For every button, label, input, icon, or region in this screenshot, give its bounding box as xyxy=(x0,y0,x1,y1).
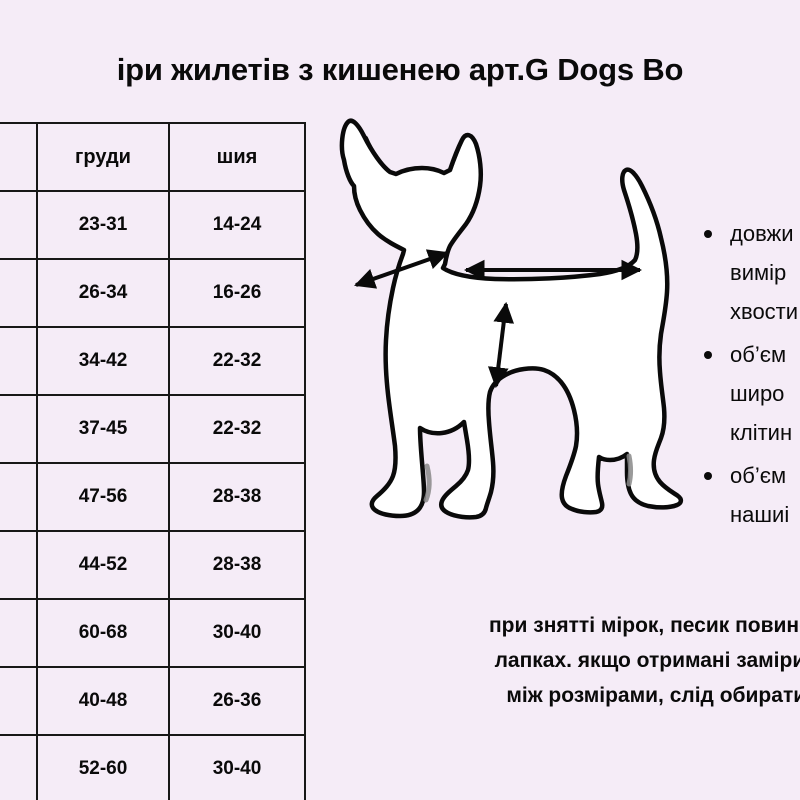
table-cell-neck: 30-40 xyxy=(169,599,305,667)
list-item: об’єм широ клітин xyxy=(700,335,800,452)
page-title: іри жилетів з кишенею арт.G Dogs Bo xyxy=(0,48,800,92)
table-cell-neck: 22-32 xyxy=(169,395,305,463)
table-row: 37-4522-32 xyxy=(0,395,305,463)
measuring-note-paragraph: при знятті мірок, песик повинен с лапках… xyxy=(345,608,800,713)
table-header-cell: груди xyxy=(37,123,169,191)
table-cell-size xyxy=(0,395,37,463)
table-cell-chest: 26-34 xyxy=(37,259,169,327)
table-cell-size xyxy=(0,259,37,327)
table-cell-size xyxy=(0,531,37,599)
table-cell-neck: 28-38 xyxy=(169,531,305,599)
table-cell-size xyxy=(0,735,37,800)
dog-rear-paw-detail xyxy=(629,456,631,484)
table-cell-chest: 23-31 xyxy=(37,191,169,259)
table-cell-chest: 34-42 xyxy=(37,327,169,395)
table-row: 60-6830-40 xyxy=(0,599,305,667)
table-cell-size xyxy=(0,463,37,531)
table-cell-size xyxy=(0,667,37,735)
size-chart-table: агрудишия23-3114-2426-3416-2634-4222-323… xyxy=(0,122,306,800)
table-cell-size xyxy=(0,327,37,395)
table-cell-neck: 22-32 xyxy=(169,327,305,395)
table-cell-size xyxy=(0,599,37,667)
table-row: 26-3416-26 xyxy=(0,259,305,327)
table-cell-chest: 44-52 xyxy=(37,531,169,599)
table-cell-chest: 60-68 xyxy=(37,599,169,667)
table-cell-neck: 28-38 xyxy=(169,463,305,531)
table-header-cell: шия xyxy=(169,123,305,191)
table-row: 47-5628-38 xyxy=(0,463,305,531)
list-item: довжи вимір хвости xyxy=(700,214,800,331)
size-chart-body: агрудишия23-3114-2426-3416-2634-4222-323… xyxy=(0,123,305,800)
table-header-row: агрудишия xyxy=(0,123,305,191)
page-canvas: іри жилетів з кишенею арт.G Dogs Bo агру… xyxy=(0,0,800,800)
table-row: 52-6030-40 xyxy=(0,735,305,800)
table-cell-neck: 30-40 xyxy=(169,735,305,800)
dog-front-paw-detail xyxy=(426,466,429,500)
table-row: 44-5228-38 xyxy=(0,531,305,599)
table-row: 34-4222-32 xyxy=(0,327,305,395)
table-cell-size xyxy=(0,191,37,259)
list-item: об’єм нашиі xyxy=(700,456,800,534)
table-cell-chest: 52-60 xyxy=(37,735,169,800)
table-row: 40-4826-36 xyxy=(0,667,305,735)
dog-measurement-diagram xyxy=(330,110,702,532)
measurement-instructions-list: довжи вимір хвости об’єм широ клітин об’… xyxy=(700,214,800,538)
table-header-cell: а xyxy=(0,123,37,191)
table-cell-neck: 14-24 xyxy=(169,191,305,259)
table-cell-neck: 16-26 xyxy=(169,259,305,327)
table-cell-chest: 37-45 xyxy=(37,395,169,463)
table-cell-chest: 40-48 xyxy=(37,667,169,735)
table-cell-neck: 26-36 xyxy=(169,667,305,735)
table-cell-chest: 47-56 xyxy=(37,463,169,531)
table-row: 23-3114-24 xyxy=(0,191,305,259)
